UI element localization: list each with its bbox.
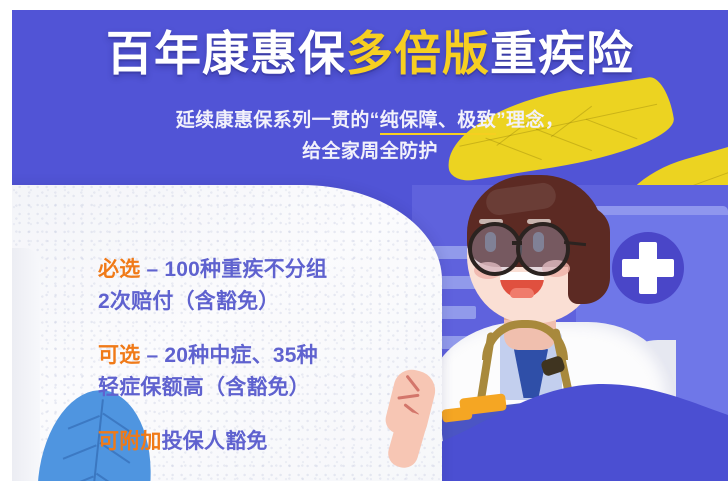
- medical-cross-icon-horizontal: [622, 259, 674, 277]
- feature-text: 投保人豁免: [162, 430, 268, 453]
- doctor-hair-side: [568, 206, 610, 304]
- doctor-tongue: [510, 288, 534, 298]
- glasses-icon-right-lens: [516, 222, 570, 276]
- insurance-promo-poster: 百年康惠保多倍版重疾险 延续康惠保系列一贯的“纯保障、极致”理念， 给全家周全防…: [0, 0, 728, 481]
- subtitle-quote-open: “: [370, 110, 380, 131]
- page-subtitle: 延续康惠保系列一贯的“纯保障、极致”理念， 给全家周全防护: [12, 106, 728, 168]
- list-item: 可选 – 20种中症、35种 轻症保额高（含豁免）: [98, 340, 428, 404]
- glasses-icon-left-lens: [468, 222, 522, 276]
- headline-part-2: 重疾险: [490, 27, 634, 80]
- list-item: 可附加投保人豁免: [98, 426, 428, 458]
- list-item: 必选 – 100种重疾不分组 2次赔付（含豁免）: [98, 254, 428, 318]
- subtitle-quote-close: ”: [496, 110, 506, 131]
- page-title: 百年康惠保多倍版重疾险: [12, 26, 728, 81]
- feature-list: 必选 – 100种重疾不分组 2次赔付（含豁免） 可选 – 20种中症、35种 …: [98, 254, 428, 458]
- subtitle-highlight: 纯保障、极致: [380, 110, 496, 135]
- feature-tag-addon: 可附加: [98, 430, 162, 453]
- subtitle-text-after: 理念，: [506, 110, 564, 131]
- content-card-fold: [12, 248, 40, 481]
- feature-tag-required: 必选: [98, 258, 140, 281]
- subtitle-text-before: 延续康惠保系列一贯的: [176, 110, 370, 131]
- poster-canvas: 百年康惠保多倍版重疾险 延续康惠保系列一贯的“纯保障、极致”理念， 给全家周全防…: [12, 10, 728, 481]
- headline-accent: 多倍版: [346, 27, 490, 80]
- glasses-icon-bridge: [512, 241, 522, 245]
- headline-part-1: 百年康惠保: [106, 27, 346, 80]
- subtitle-line-1: 延续康惠保系列一贯的“纯保障、极致”理念，: [12, 106, 728, 137]
- feature-tag-optional: 可选: [98, 344, 140, 367]
- subtitle-line-2: 给全家周全防护: [12, 137, 728, 168]
